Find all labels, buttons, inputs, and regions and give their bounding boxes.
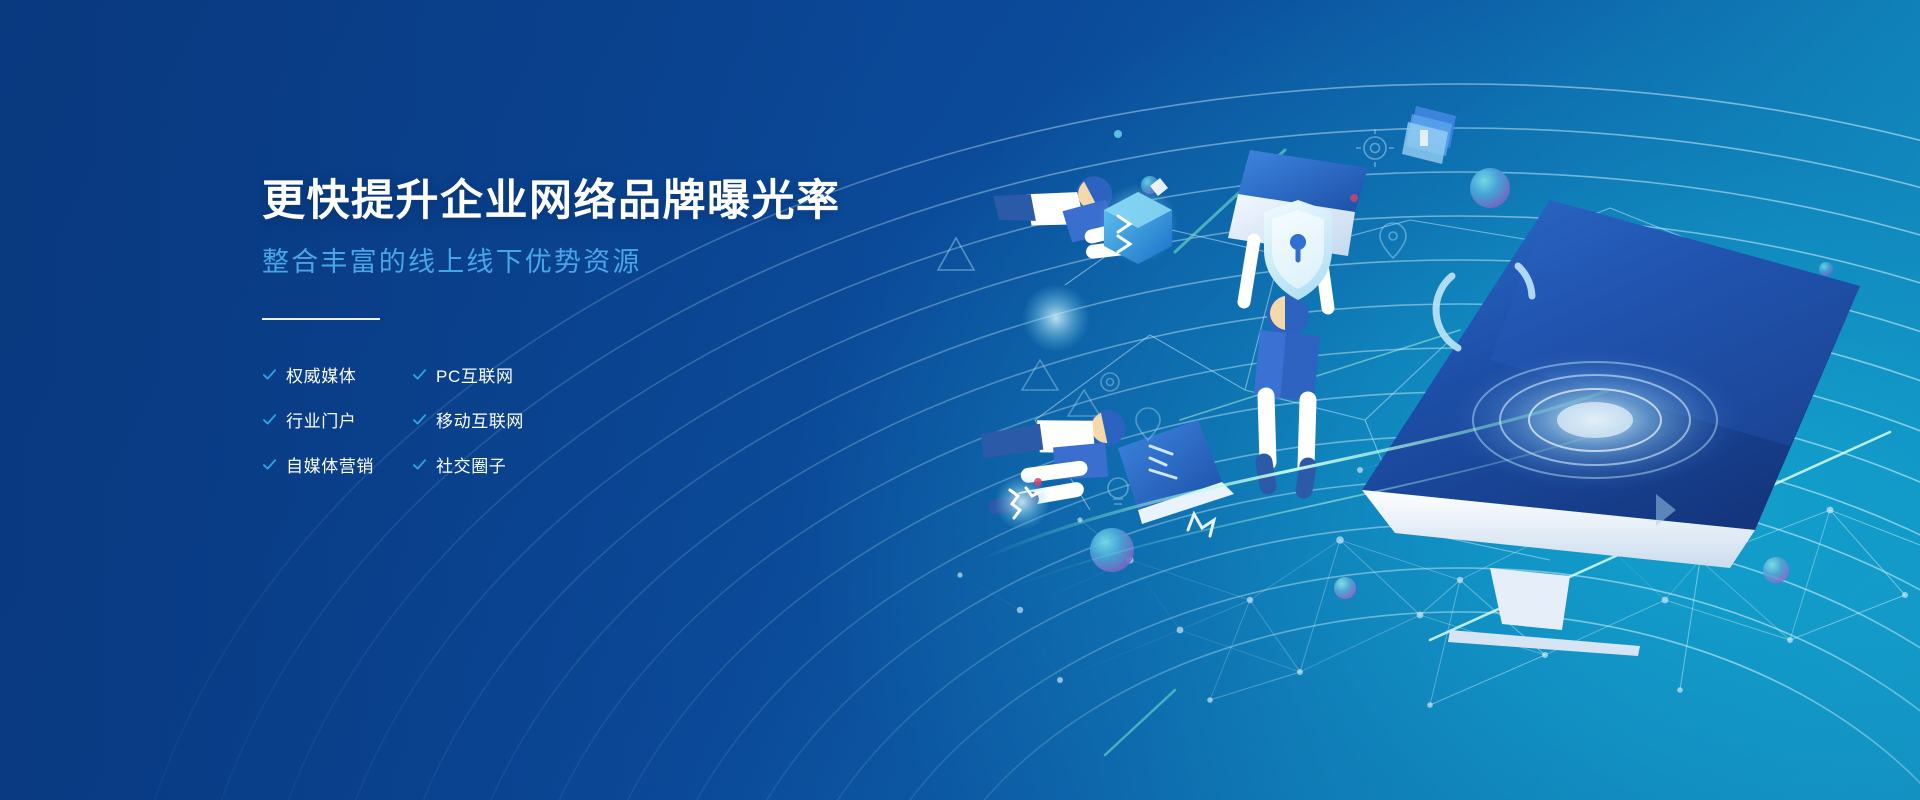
- person-on-screen-holding-laptop: [1228, 150, 1368, 490]
- check-icon: [262, 457, 277, 472]
- location-pin-icon: [1136, 408, 1160, 440]
- hero-illustration: [850, 90, 1920, 650]
- ripple-rings: [1445, 348, 1745, 492]
- cube-icon: [1098, 178, 1178, 264]
- network-nodes: [957, 367, 1908, 707]
- gradient-spheres: [1090, 168, 1833, 599]
- sparkle-burst: [994, 474, 1050, 530]
- feature-label: 行业门户: [286, 407, 356, 432]
- location-pin-icon: [1380, 223, 1406, 258]
- check-icon: [412, 457, 427, 472]
- stacked-cards-icon: [1402, 106, 1456, 164]
- triangle-icon: [938, 238, 974, 270]
- broken-ring-accent: [1436, 266, 1532, 348]
- check-icon: [412, 412, 427, 427]
- feature-item-mobile-internet: 移动互联网: [412, 407, 582, 432]
- comet-streaks: [1105, 150, 1890, 755]
- icon-connector-lines: [1035, 208, 1690, 560]
- feature-item-social-circle: 社交圈子: [412, 452, 582, 477]
- light-sweep-arc: [980, 390, 1640, 588]
- triangle-icon: [1022, 360, 1058, 390]
- check-icon: [262, 367, 277, 382]
- feature-item-authoritative-media: 权威媒体: [262, 362, 412, 387]
- triangle-icon: [1068, 390, 1100, 416]
- gear-icon: [1101, 373, 1119, 391]
- laptop-icon: [1118, 420, 1234, 524]
- feature-label: PC互联网: [436, 362, 514, 387]
- sparkle-burst: [1188, 514, 1214, 536]
- page-subtitle: 整合丰富的线上线下优势资源: [262, 246, 882, 278]
- shield-lock-icon: [1264, 200, 1332, 300]
- feature-list: 权威媒体 PC互联网 行业门户 移动互联网: [262, 362, 882, 477]
- flying-person-upper: [988, 145, 1140, 296]
- check-icon: [262, 412, 277, 427]
- page-title: 更快提升企业网络品牌曝光率: [262, 176, 882, 227]
- jet-glow: [1022, 284, 1090, 352]
- title-divider: [262, 318, 380, 320]
- lightbulb-icon: [1108, 478, 1128, 504]
- hero-banner: 更快提升企业网络品牌曝光率 整合丰富的线上线下优势资源 权威媒体 PC互联网: [0, 0, 1920, 800]
- monitor-screen: [1362, 200, 1860, 656]
- feature-label: 社交圈子: [436, 452, 506, 477]
- feature-label: 移动互联网: [436, 407, 524, 432]
- hero-content: 更快提升企业网络品牌曝光率 整合丰富的线上线下优势资源 权威媒体 PC互联网: [262, 176, 882, 477]
- feature-item-self-media-marketing: 自媒体营销: [262, 452, 412, 477]
- feature-item-pc-internet: PC互联网: [412, 362, 582, 387]
- accent-dots: [1034, 130, 1358, 486]
- triangle-icon: [1656, 494, 1676, 526]
- feature-label: 自媒体营销: [286, 452, 374, 477]
- feature-item-industry-portal: 行业门户: [262, 407, 412, 432]
- feature-label: 权威媒体: [286, 362, 356, 387]
- check-icon: [412, 367, 427, 382]
- flying-person-lower: [978, 403, 1136, 507]
- gear-icon: [1356, 129, 1394, 167]
- network-mesh: [960, 370, 1920, 705]
